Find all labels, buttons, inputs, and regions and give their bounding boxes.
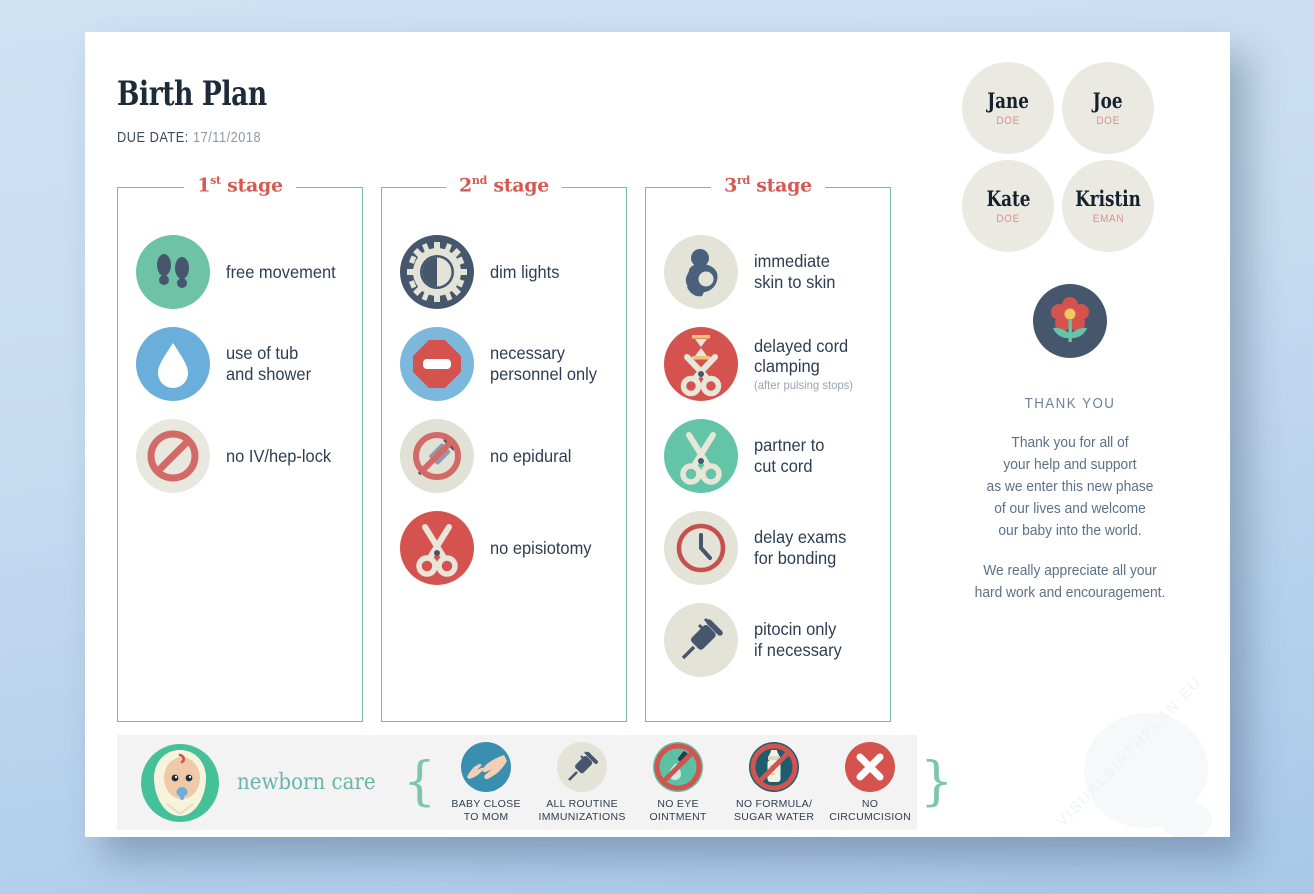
stage-item[interactable]: free movement	[118, 226, 362, 318]
stage-panel-2: 2nd stage	[381, 187, 627, 722]
stage-item-label: no episiotomy	[490, 538, 592, 559]
watermark: VISUALBIRTHPLAN.EU	[1028, 655, 1230, 837]
stage-item[interactable]: partner to cut cord	[646, 410, 890, 502]
newborn-care-bar: newborn care { BABY CLOSE TO MOM	[117, 735, 917, 830]
stage-item-label: delay exams for bonding	[754, 527, 846, 568]
stage-title-3: 3rd stage	[711, 174, 825, 196]
flower-icon	[1031, 282, 1109, 360]
no-syringe-icon	[398, 417, 476, 495]
badge-last-name: DOE	[1096, 115, 1120, 127]
stage-item[interactable]: no epidural	[382, 410, 626, 502]
name-badges: Jane DOE Joe DOE Kate DOE Kristin EMAN	[962, 62, 1166, 252]
stage-item-label: no epidural	[490, 446, 571, 467]
badge-first-name: Jane	[987, 90, 1029, 111]
swaddled-baby-icon	[139, 742, 221, 824]
stage-item[interactable]: delayed cord clamping (after pulsing sto…	[646, 318, 890, 410]
page-title: Birth Plan	[117, 74, 267, 114]
stage-item[interactable]: dim lights	[382, 226, 626, 318]
stage-item[interactable]: use of tub and shower	[118, 318, 362, 410]
newborn-item-caption: NO FORMULA/ SUGAR WATER	[730, 798, 818, 824]
thank-you-body-1: Thank you for all of your help and suppo…	[947, 432, 1194, 542]
sidebar: Jane DOE Joe DOE Kate DOE Kristin EMAN	[940, 62, 1200, 604]
stage-item-label: immediate skin to skin	[754, 251, 835, 292]
stage-title-1: 1st stage	[184, 174, 296, 196]
red-x-icon	[844, 741, 896, 793]
scissors-icon	[662, 417, 740, 495]
name-badge[interactable]: Joe DOE	[1062, 62, 1154, 154]
stage-item-label: necessary personnel only	[490, 343, 597, 384]
stage-title-2: 2nd stage	[446, 174, 562, 196]
newborn-item-caption: BABY CLOSE TO MOM	[442, 798, 530, 824]
birth-plan-card: VISUALBIRTHPLAN.EU Birth Plan DUE DATE: …	[85, 32, 1230, 837]
name-badge[interactable]: Kate DOE	[962, 160, 1054, 252]
stage-item[interactable]: immediate skin to skin	[646, 226, 890, 318]
footprints-icon	[134, 233, 212, 311]
badge-first-name: Kate	[986, 188, 1030, 209]
newborn-item-caption: NO EYE OINTMENT	[634, 798, 722, 824]
stage-item-label: use of tub and shower	[226, 343, 311, 384]
stage-item-label: dim lights	[490, 262, 559, 283]
newborn-item[interactable]: NO CIRCUMCISION	[826, 741, 914, 824]
name-badge[interactable]: Jane DOE	[962, 62, 1054, 154]
syringe-icon	[662, 601, 740, 679]
badge-first-name: Joe	[1093, 90, 1123, 111]
no-bottle-icon	[748, 741, 800, 793]
stage-item-label: no IV/hep-lock	[226, 446, 331, 467]
stage-item[interactable]: no IV/hep-lock	[118, 410, 362, 502]
newborn-item[interactable]: NO EYE OINTMENT	[634, 741, 722, 824]
due-date: DUE DATE: 17/11/2018	[117, 130, 261, 146]
stage-panel-3: 3rd stage immediate skin to skin	[645, 187, 891, 722]
newborn-care-items: BABY CLOSE TO MOM ALL R	[442, 741, 914, 824]
due-date-label: DUE DATE:	[117, 130, 189, 146]
stages-container: 1st stage free movement	[117, 187, 917, 722]
breastfeeding-icon	[662, 233, 740, 311]
hourglass-scissors-icon	[662, 325, 740, 403]
newborn-item[interactable]: ALL ROUTINE IMMUNIZATIONS	[538, 741, 626, 824]
stage-item[interactable]: no episiotomy	[382, 502, 626, 594]
hands-touching-icon	[460, 741, 512, 793]
newborn-item[interactable]: NO FORMULA/ SUGAR WATER	[730, 741, 818, 824]
badge-last-name: EMAN	[1092, 213, 1123, 225]
badge-last-name: DOE	[996, 213, 1020, 225]
syringe-icon	[556, 741, 608, 793]
newborn-item-caption: NO CIRCUMCISION	[826, 798, 914, 824]
stage-item[interactable]: pitocin only if necessary	[646, 594, 890, 686]
prohibition-icon	[134, 417, 212, 495]
name-badge[interactable]: Kristin EMAN	[1062, 160, 1154, 252]
badge-last-name: DOE	[996, 115, 1020, 127]
scissors-icon	[398, 509, 476, 587]
due-date-value: 17/11/2018	[193, 130, 261, 146]
stage-item[interactable]: delay exams for bonding	[646, 502, 890, 594]
stage-item-note: (after pulsing stops)	[754, 378, 853, 392]
stage-item[interactable]: necessary personnel only	[382, 318, 626, 410]
no-eye-dropper-icon	[652, 741, 704, 793]
thank-you-title: THANK YOU	[950, 396, 1189, 412]
gear-contrast-icon	[398, 233, 476, 311]
stop-sign-icon	[398, 325, 476, 403]
stage-item-label: partner to cut cord	[754, 435, 824, 476]
watermark-text: VISUALBIRTHPLAN.EU	[1054, 673, 1206, 830]
stage-item-label: delayed cord clamping (after pulsing sto…	[754, 315, 853, 413]
newborn-item[interactable]: BABY CLOSE TO MOM	[442, 741, 530, 824]
thank-you-body-2: We really appreciate all your hard work …	[947, 560, 1194, 604]
clock-icon	[662, 509, 740, 587]
brace-right-icon: }	[920, 764, 953, 800]
stage-item-label: pitocin only if necessary	[754, 619, 842, 660]
newborn-item-caption: ALL ROUTINE IMMUNIZATIONS	[538, 798, 626, 824]
stage-panel-1: 1st stage free movement	[117, 187, 363, 722]
water-drop-icon	[134, 325, 212, 403]
brace-left-icon: {	[403, 764, 436, 800]
newborn-care-label: newborn care	[237, 770, 376, 795]
badge-first-name: Kristin	[1075, 188, 1141, 209]
stage-item-label: free movement	[226, 262, 336, 283]
stage-item-text: delayed cord clamping	[754, 336, 848, 377]
